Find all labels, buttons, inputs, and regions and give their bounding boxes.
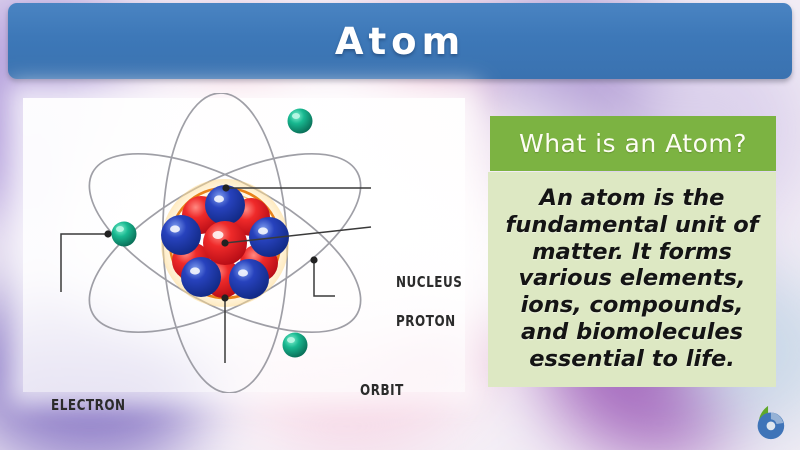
label-orbit: ORBIT — [360, 381, 404, 399]
label-nucleus: NUCLEUS — [396, 273, 462, 291]
electron — [112, 222, 137, 247]
page-title: Atom — [335, 20, 465, 63]
logo-disc-hole — [767, 421, 776, 430]
neutron — [229, 259, 269, 299]
definition-card-header: What is an Atom? — [490, 116, 776, 171]
leader-dot-proton — [221, 239, 228, 246]
definition-heading: What is an Atom? — [519, 129, 747, 158]
electron — [283, 333, 308, 358]
definition-text: An atom is the fundamental unit of matte… — [503, 185, 761, 372]
neutron — [181, 257, 221, 297]
leader-dot-orbit — [310, 256, 317, 263]
leader-dot-nucleus — [222, 184, 229, 191]
title-banner: Atom — [8, 3, 792, 79]
label-proton: PROTON — [396, 312, 456, 330]
neutron — [161, 215, 201, 255]
atom-structure-diagram: NUCLEUS PROTON ORBIT ELECTRON NEUTRON — [23, 93, 473, 393]
leader-line-orbit — [314, 260, 335, 296]
leader-line-electron — [61, 234, 108, 292]
definition-card: What is an Atom? An atom is the fundamen… — [488, 116, 778, 390]
leader-dot-neutron — [221, 294, 228, 301]
label-electron: ELECTRON — [51, 396, 126, 414]
leader-dot-electron — [104, 230, 111, 237]
infographic-canvas: Atom — [0, 0, 800, 450]
electron — [288, 109, 313, 134]
biology-online-logo[interactable] — [750, 404, 788, 442]
definition-card-body: An atom is the fundamental unit of matte… — [488, 172, 776, 387]
